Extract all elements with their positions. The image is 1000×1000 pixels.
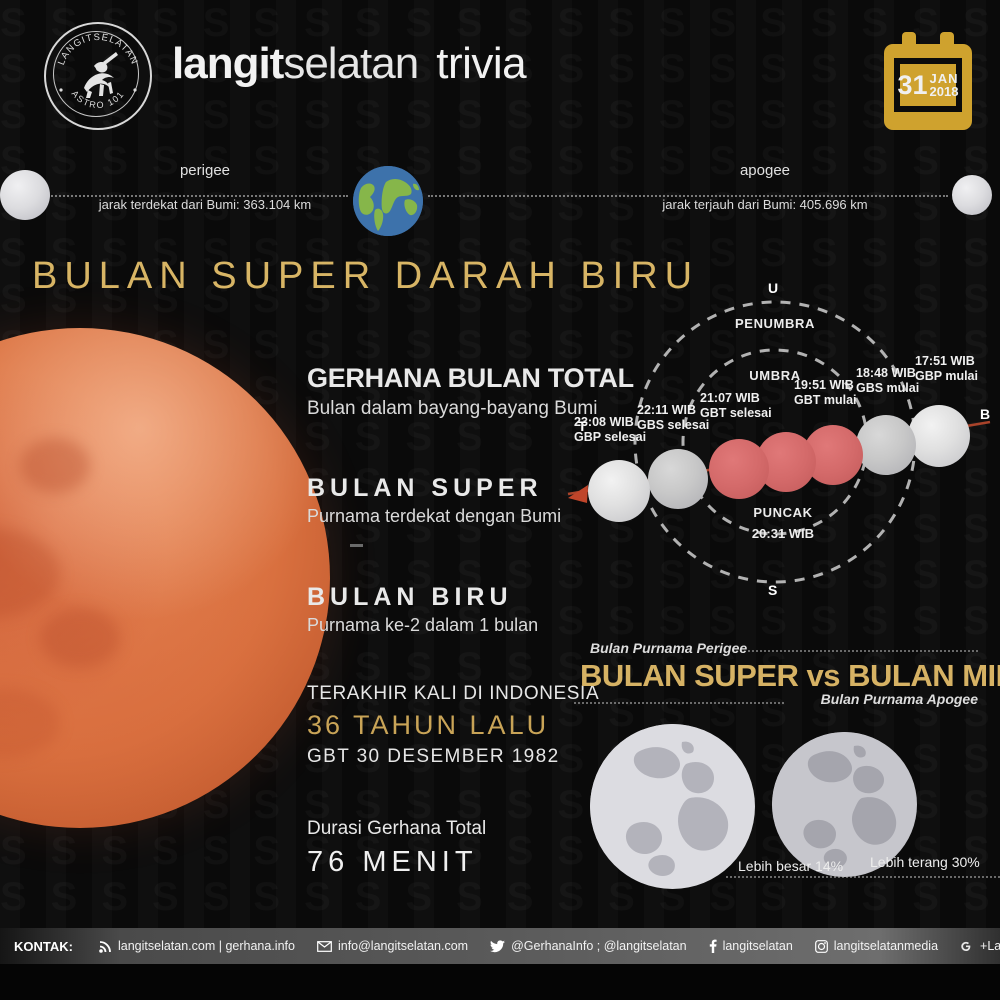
perigee-label: perigee jarak terdekat dari Bumi: 363.10… bbox=[60, 162, 350, 212]
langitselatan-logo-seal: LANGITSELATAN ASTRO 101 bbox=[44, 22, 152, 130]
brand-suffix: trivia bbox=[436, 39, 526, 88]
eclipse-moon-gbs-mulai bbox=[856, 415, 916, 475]
caption-apogee: Bulan Purnama Apogee bbox=[821, 691, 978, 707]
twitter-icon bbox=[490, 940, 505, 953]
last-occurrence-date: GBT 30 DESEMBER 1982 bbox=[307, 746, 599, 768]
apogee-moon-icon bbox=[952, 175, 992, 215]
moon-mare bbox=[0, 688, 60, 758]
phase-gbt-selesai: 21:07 WIB GBT selesai bbox=[700, 391, 772, 421]
moon-mare bbox=[0, 528, 60, 618]
svg-text:LANGITSELATAN: LANGITSELATAN bbox=[56, 32, 140, 67]
eclipse-path-diagram: U S T B PENUMBRA UMBRA PUNCAK 20:31 WIB … bbox=[560, 272, 1000, 612]
axis-label-east: B bbox=[980, 406, 990, 422]
fact-bulan-super: BULAN SUPER Purnama terdekat dengan Bumi bbox=[307, 474, 561, 527]
apogee-label: apogee jarak terjauh dari Bumi: 405.696 … bbox=[580, 162, 950, 212]
last-occurrence-block: TERAKHIR KALI DI INDONESIA 36 TAHUN LALU… bbox=[307, 683, 599, 768]
infographic-page: SSSSSSSSSSSSSSSSSSSSSSSSSSSSSSSSSSSSSSSS… bbox=[0, 0, 1000, 1000]
eclipse-moon-gbs-selesai bbox=[648, 449, 708, 509]
contact-footer: KONTAK: langitselatan.com | gerhana.info… bbox=[0, 928, 1000, 964]
footer-item-text: @GerhanaInfo ; @langitselatan bbox=[511, 939, 686, 953]
phase-event: GBT selesai bbox=[700, 406, 772, 421]
phase-gbs-mulai: 18:48 WIB GBS mulai bbox=[856, 366, 919, 396]
footer-bottom-strip bbox=[0, 964, 1000, 1000]
caption-top-dotted-line bbox=[748, 650, 978, 652]
earth-icon bbox=[353, 166, 423, 236]
phase-event: GBP selesai bbox=[574, 430, 646, 445]
fact-heading: BULAN SUPER bbox=[307, 474, 561, 503]
brand-title: langitselatantrivia bbox=[172, 38, 526, 90]
phase-time: 18:48 WIB bbox=[856, 366, 919, 381]
eclipse-moon-gbp-mulai bbox=[908, 405, 970, 467]
note-lebih-terang: Lebih terang 30% bbox=[870, 854, 980, 870]
envelope-icon bbox=[317, 941, 332, 952]
super-moon-circle bbox=[590, 724, 755, 889]
apogee-subtitle: jarak terjauh dari Bumi: 405.696 km bbox=[580, 197, 950, 212]
footer-item-googleplus[interactable]: +LangitselatanMedia bbox=[960, 939, 1000, 953]
calendar-icon: 31 JAN 2018 bbox=[884, 32, 972, 130]
peak-time: 20:31 WIB bbox=[738, 526, 828, 541]
footer-item-instagram[interactable]: langitselatanmedia bbox=[815, 939, 938, 953]
axis-label-north: U bbox=[768, 280, 778, 296]
calendar-year: 2018 bbox=[930, 85, 959, 98]
phase-event: GBP mulai bbox=[915, 369, 978, 384]
axis-label-south: S bbox=[768, 582, 777, 598]
phase-event: GBS mulai bbox=[856, 381, 919, 396]
svg-text:ASTRO 101: ASTRO 101 bbox=[70, 89, 127, 111]
footer-item-text: +LangitselatanMedia bbox=[980, 939, 1000, 953]
phase-gbt-mulai: 19:51 WIB GBT mulai bbox=[794, 378, 857, 408]
blood-moon-image bbox=[0, 328, 330, 828]
fact-bulan-biru: BULAN BIRU Purnama ke-2 dalam 1 bulan bbox=[307, 583, 538, 636]
moon-mare bbox=[20, 438, 90, 493]
fact-subtitle: Purnama ke-2 dalam 1 bulan bbox=[307, 615, 538, 636]
divider-dash bbox=[350, 544, 363, 547]
perigee-title: perigee bbox=[60, 162, 350, 179]
fact-subtitle: Purnama terdekat dengan Bumi bbox=[307, 506, 561, 527]
calendar-month-year: JAN 2018 bbox=[930, 72, 959, 98]
apogee-title: apogee bbox=[580, 162, 950, 179]
phase-time: 22:11 WIB bbox=[637, 403, 709, 418]
duration-value: 76 MENIT bbox=[307, 846, 486, 879]
super-vs-mini-title: BULAN SUPER vs BULAN MINI bbox=[580, 658, 980, 694]
footer-item-text: info@langitselatan.com bbox=[338, 939, 468, 953]
phase-event: GBS selesai bbox=[637, 418, 709, 433]
super-vs-mini-section: Bulan Purnama Perigee BULAN SUPER vs BUL… bbox=[560, 636, 1000, 896]
footer-item-website[interactable]: langitselatan.com | gerhana.info bbox=[99, 939, 295, 953]
footer-item-email[interactable]: info@langitselatan.com bbox=[317, 939, 468, 953]
phase-gbp-selesai: 23:08 WIB GBP selesai bbox=[574, 415, 646, 445]
super-moon-surface bbox=[590, 724, 755, 889]
footer-item-twitter[interactable]: @GerhanaInfo ; @langitselatan bbox=[490, 939, 686, 953]
footer-label: KONTAK: bbox=[14, 939, 73, 954]
google-plus-icon bbox=[960, 940, 974, 953]
phase-gbp-mulai: 17:51 WIB GBP mulai bbox=[915, 354, 978, 384]
phase-time: 23:08 WIB bbox=[574, 415, 646, 430]
caption-perigee: Bulan Purnama Perigee bbox=[590, 640, 747, 656]
duration-block: Durasi Gerhana Total 76 MENIT bbox=[307, 818, 486, 879]
perigee-moon-icon bbox=[0, 170, 50, 220]
duration-caption: Durasi Gerhana Total bbox=[307, 818, 486, 840]
perigee-apogee-row: perigee jarak terdekat dari Bumi: 363.10… bbox=[0, 150, 1000, 242]
instagram-icon bbox=[815, 940, 828, 953]
moon-mare bbox=[40, 608, 120, 668]
penumbra-label: PENUMBRA bbox=[715, 316, 835, 331]
facebook-icon bbox=[709, 939, 717, 953]
notes-dotted-line bbox=[726, 876, 1000, 878]
phase-time: 19:51 WIB bbox=[794, 378, 857, 393]
phase-gbs-selesai: 22:11 WIB GBS selesai bbox=[637, 403, 709, 433]
caption-bottom-dotted-line bbox=[574, 702, 784, 704]
eclipse-moon-gbp-selesai bbox=[588, 460, 650, 522]
earth-globe-svg bbox=[353, 166, 423, 236]
header: LANGITSELATAN ASTRO 101 la bbox=[0, 0, 1000, 150]
calendar-date-plate: 31 JAN 2018 bbox=[900, 64, 956, 106]
perigee-subtitle: jarak terdekat dari Bumi: 363.104 km bbox=[60, 197, 350, 212]
footer-item-text: langitselatanmedia bbox=[834, 939, 938, 953]
phase-time: 21:07 WIB bbox=[700, 391, 772, 406]
footer-item-text: langitselatan.com | gerhana.info bbox=[118, 939, 295, 953]
eclipse-moon-gbt-selesai bbox=[709, 439, 769, 499]
horse-rider-seal-icon: LANGITSELATAN ASTRO 101 bbox=[46, 24, 150, 128]
rss-icon bbox=[99, 940, 112, 953]
last-occurrence-caption: TERAKHIR KALI DI INDONESIA bbox=[307, 683, 599, 705]
peak-label: PUNCAK bbox=[738, 505, 828, 520]
brand-bold: langit bbox=[172, 39, 283, 88]
phase-time: 17:51 WIB bbox=[915, 354, 978, 369]
brand-light: selatan bbox=[283, 39, 418, 88]
footer-item-text: langitselatan bbox=[723, 939, 793, 953]
footer-item-facebook[interactable]: langitselatan bbox=[709, 939, 793, 953]
phase-event: GBT mulai bbox=[794, 393, 857, 408]
note-lebih-besar: Lebih besar 14% bbox=[738, 858, 843, 874]
fact-heading: BULAN BIRU bbox=[307, 583, 538, 612]
calendar-day: 31 bbox=[897, 72, 927, 98]
last-occurrence-years: 36 TAHUN LALU bbox=[307, 710, 599, 741]
